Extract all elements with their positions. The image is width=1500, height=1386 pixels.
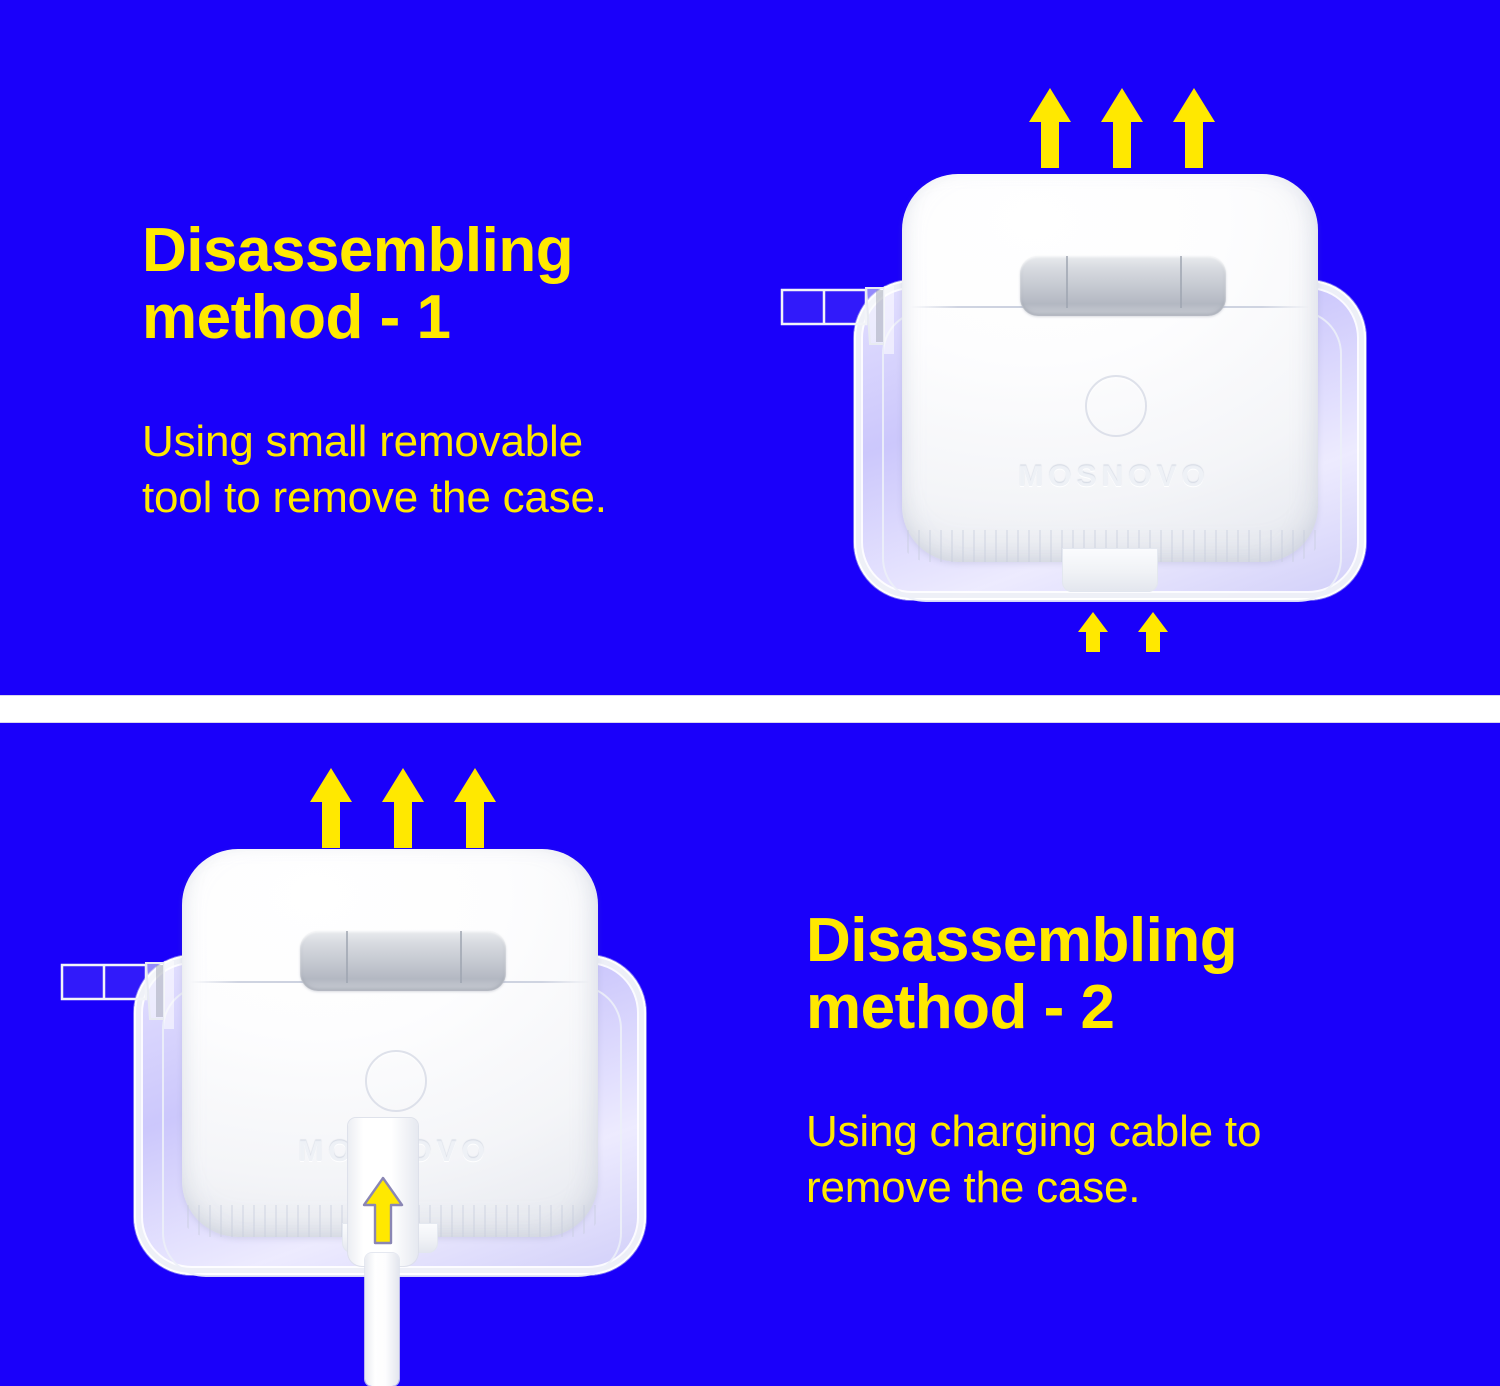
arrow-up-icon	[1078, 612, 1108, 652]
hinge-notch	[1066, 256, 1068, 308]
pairing-button-icon	[1085, 375, 1147, 437]
cable-wire	[365, 1253, 399, 1386]
method-1-headline: Disassembling method - 1	[142, 218, 782, 352]
arrow-up-icon	[1173, 88, 1215, 168]
arrow-up-icon	[362, 1175, 404, 1247]
hinge-notch	[1180, 256, 1182, 308]
arrow-up-icon	[1138, 612, 1168, 652]
charging-port-cutout	[1062, 548, 1158, 592]
method-1-subline: Using small removable tool to remove the…	[142, 414, 782, 527]
method-2-subline: Using charging cable to remove the case.	[806, 1104, 1456, 1217]
airpods-case-body	[902, 174, 1318, 562]
brand-emboss: MOSNOVO	[990, 460, 1238, 494]
method-1-text-block: Disassembling method - 1 Using small rem…	[142, 218, 782, 527]
charging-cable-icon	[0, 723, 700, 1386]
airpods-case-assembly: MOSNOVO	[840, 160, 1380, 600]
arrow-up-icon	[1029, 88, 1071, 168]
panel-divider	[0, 695, 1500, 723]
method-2-headline: Disassembling method - 2	[806, 908, 1456, 1042]
removable-tool-icon	[780, 282, 900, 354]
panel-method-2: Disassembling method - 2 Using charging …	[0, 723, 1500, 1386]
product-instruction-image: Disassembling method - 1 Using small rem…	[0, 0, 1500, 1386]
panel-method-1: Disassembling method - 1 Using small rem…	[0, 0, 1500, 695]
arrow-up-icon	[1101, 88, 1143, 168]
method-2-text-block: Disassembling method - 2 Using charging …	[806, 908, 1456, 1217]
hinge-icon	[1020, 256, 1226, 316]
